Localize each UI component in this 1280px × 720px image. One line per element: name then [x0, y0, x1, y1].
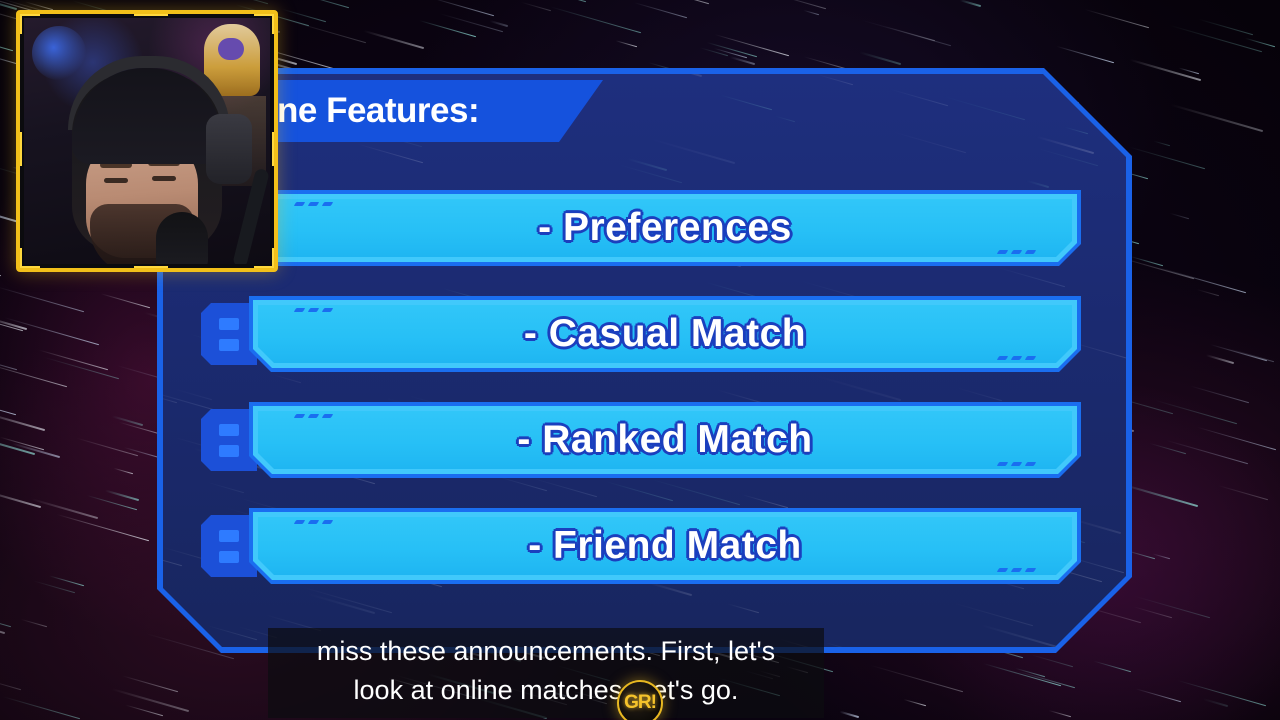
menu-bar-fill: - Casual Match — [258, 305, 1072, 363]
microphone — [156, 212, 208, 264]
menu-item-preferences[interactable]: - Preferences — [201, 190, 1081, 266]
eye — [152, 176, 176, 181]
menu-bar-bevel: - Friend Match — [253, 512, 1077, 580]
menu-list: - Preferences — [201, 190, 1081, 584]
screen: ne Features: - Preferences — [0, 0, 1280, 720]
webcam-bg-light — [32, 26, 86, 80]
webcam-video — [24, 18, 270, 264]
panel-inner: ne Features: - Preferences — [163, 74, 1126, 647]
channel-logo-text: GR! — [624, 692, 656, 714]
caption-line-2: look at online matches. Let's go. — [280, 671, 812, 710]
menu-item-friend-match[interactable]: - Friend Match — [201, 508, 1081, 584]
menu-bar-fill: - Preferences — [258, 199, 1072, 257]
frame-corner-icon — [254, 248, 276, 270]
menu-item-label: - Ranked Match — [517, 418, 812, 462]
tab-dot-icon — [219, 445, 239, 457]
frame-edge-mark — [272, 132, 277, 166]
channel-logo-badge: GR! — [617, 680, 663, 720]
frame-edge-mark — [134, 266, 168, 271]
tab-dot-icon — [219, 551, 239, 563]
menu-bar-fill: - Ranked Match — [258, 411, 1072, 469]
menu-bar[interactable]: - Casual Match — [249, 296, 1081, 372]
menu-item-casual-match[interactable]: - Casual Match — [201, 296, 1081, 372]
menu-bar[interactable]: - Ranked Match — [249, 402, 1081, 478]
frame-edge-mark — [134, 11, 168, 16]
page-title: ne Features: — [277, 91, 479, 131]
menu-item-ranked-match[interactable]: - Ranked Match — [201, 402, 1081, 478]
tab-dot-icon — [219, 339, 239, 351]
menu-connector-tab — [201, 515, 257, 577]
menu-bar-bevel: - Preferences — [253, 194, 1077, 262]
frame-corner-icon — [18, 248, 40, 270]
menu-item-label: - Preferences — [538, 206, 792, 250]
menu-bar-bevel: - Casual Match — [253, 300, 1077, 368]
menu-bar[interactable]: - Preferences — [249, 190, 1081, 266]
menu-item-label: - Friend Match — [528, 524, 802, 568]
tab-dot-icon — [219, 318, 239, 330]
eye — [104, 178, 128, 183]
menu-connector-tab — [201, 409, 257, 471]
menu-bar-bevel: - Ranked Match — [253, 406, 1077, 474]
frame-corner-icon — [254, 12, 276, 34]
online-features-panel: ne Features: - Preferences — [157, 68, 1132, 653]
menu-connector-tab — [201, 303, 257, 365]
webcam-overlay — [16, 10, 278, 272]
menu-bar-fill: - Friend Match — [258, 517, 1072, 575]
frame-edge-mark — [17, 132, 22, 166]
menu-bar[interactable]: - Friend Match — [249, 508, 1081, 584]
menu-item-label: - Casual Match — [524, 312, 806, 356]
tab-dot-icon — [219, 530, 239, 542]
headphone-cup — [206, 114, 252, 184]
frame-corner-icon — [18, 12, 40, 34]
subtitle-caption: miss these announcements. First, let's l… — [268, 628, 824, 718]
tab-dot-icon — [219, 424, 239, 436]
caption-line-1: miss these announcements. First, let's — [280, 632, 812, 671]
